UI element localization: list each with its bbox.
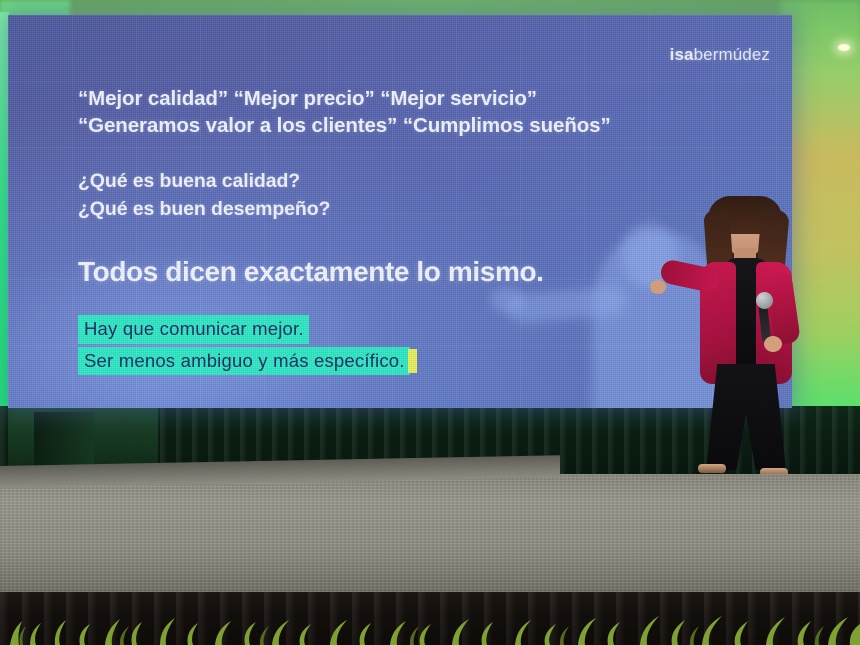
- speaker-hand-right: [764, 336, 782, 352]
- brand-logo-light: bermúdez: [694, 45, 770, 64]
- question-line-1: ¿Qué es buena calidad?: [78, 168, 768, 196]
- ceiling-light-icon: [838, 44, 850, 51]
- quote-line-2: “Generamos valor a los clientes” “Cumpli…: [78, 112, 768, 139]
- stage-skirt: [0, 592, 860, 645]
- quotes-block: “Mejor calidad” “Mejor precio” “Mejor se…: [78, 85, 768, 140]
- highlight-row-1: Hay que comunicar mejor.: [78, 315, 768, 344]
- brand-logo-bold: isa: [670, 45, 694, 64]
- highlights-block: Hay que comunicar mejor. Ser menos ambig…: [78, 315, 768, 375]
- question-line-2: ¿Qué es buen desempeño?: [78, 196, 768, 224]
- questions-block: ¿Qué es buena calidad? ¿Qué es buen dese…: [78, 168, 768, 223]
- highlight-line-2: Ser menos ambiguo y más específico.: [78, 347, 410, 376]
- highlight-line-1: Hay que comunicar mejor.: [78, 315, 309, 344]
- highlight-row-2: Ser menos ambiguo y más específico.: [78, 347, 768, 376]
- speaker-hand-left: [650, 280, 666, 294]
- brand-logo: isabermúdez: [670, 45, 770, 65]
- highlight-accent-marker: [408, 349, 417, 373]
- slide-body: “Mejor calidad” “Mejor precio” “Mejor se…: [78, 85, 768, 378]
- stage-floor: [0, 474, 860, 598]
- speaker-shoe-left: [698, 464, 726, 473]
- quote-line-1: “Mejor calidad” “Mejor precio” “Mejor se…: [78, 85, 768, 112]
- speaker-figure: [672, 196, 812, 484]
- microphone-head-icon: [756, 292, 773, 309]
- stage-photo-scene: isabermúdez “Mejor calidad” “Mejor preci…: [0, 0, 860, 645]
- speaker-pants: [706, 364, 786, 470]
